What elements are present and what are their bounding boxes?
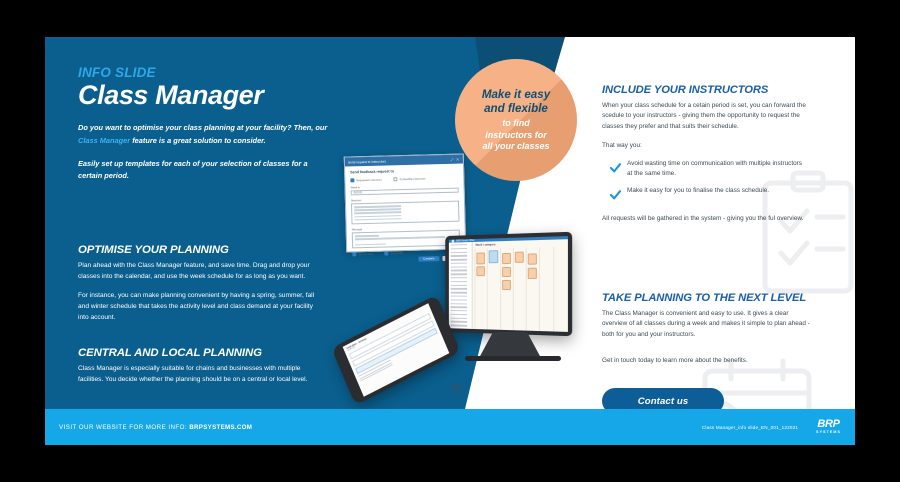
lede-paragraph: Do you want to optimise your class plann… [78,122,328,146]
week-calendar-grid[interactable]: Week / category [473,239,568,332]
badge-line-3: to find [502,118,530,128]
badge-line-2: and flexible [484,102,548,115]
dialog-complete-button[interactable]: Complete [418,256,439,262]
smartphone-mockup: Instruktör - schema Vecka 05 [337,319,469,423]
calendar-event[interactable] [502,267,511,277]
sidebar-line [451,277,467,278]
calendar-column[interactable] [553,247,566,332]
logo-wordmark: BRP [816,419,841,430]
dialog-radio-requested[interactable]: Requested instructors [350,178,381,183]
radio-off-icon [394,177,398,181]
sidebar-line [451,295,467,296]
dialog-sessions-list[interactable] [351,201,460,225]
radio-label: Requested instructors [356,178,381,182]
checkbox-checked-icon [352,252,356,256]
checkmark-icon [610,160,621,178]
list-item: Avoid wasting time on communication with… [602,159,807,179]
calendar-column[interactable] [487,248,499,332]
section-heading: TAKE PLANNING TO THE NEXT LEVEL [602,292,810,304]
sidebar-line [451,244,467,246]
calendar-event[interactable] [528,268,537,279]
list-line [355,243,386,245]
footer-right: Class Manager_info slide_EN_001_122021 B… [702,419,841,434]
calendar-event[interactable] [515,252,524,263]
badge-headline: Make it easy and flexible [482,88,550,115]
calendar-column[interactable] [475,248,487,331]
footer-document-code: Class Manager_info slide_EN_001_122021 [702,425,798,430]
sidebar-line [451,255,467,257]
list-line [355,235,380,237]
section-include-your-instructors: INCLUDE YOUR INSTRUCTORS When your class… [602,84,807,224]
calendar-column[interactable] [500,248,512,332]
monitor-stand [449,332,587,366]
left-column: INFO SLIDE Class Manager Do you want to … [78,65,328,182]
section-outro: All requests will be gathered in the sys… [602,214,807,224]
sidebar-line [451,314,467,316]
footer-bar: VISIT OUR WEBSITE FOR MORE INFO: BRPSYST… [45,409,855,445]
sidebar-line [451,285,467,286]
dialog-radio-group: Requested instructors Compatible instruc… [350,176,458,183]
list-line [355,236,445,240]
sidebar-line [451,299,467,301]
calendar-event[interactable] [502,280,511,290]
calendar-event[interactable] [476,252,485,264]
section-paragraph: Plan ahead with the Class Manager featur… [78,261,318,282]
badge-line-4: instructors for [485,130,547,140]
brp-systems-logo: BRP SYSTEMS [816,419,841,434]
lede-part-2: feature is a great solution to consider. [130,136,266,145]
phone-home-button[interactable] [450,382,462,394]
dialog-heading: Send feedback request to [350,168,458,175]
sidebar-line [451,274,467,275]
sidebar-line [451,248,467,250]
calendar-column[interactable] [539,247,552,332]
info-slide: INFO SLIDE Class Manager Do you want to … [45,37,855,445]
calendar-event[interactable] [489,250,498,263]
that-way-label: That way you: [602,141,807,151]
dialog-checkbox-sms[interactable]: Send SMS [384,251,403,255]
sidebar-line [451,292,467,293]
sidebar-line [451,259,467,261]
calendar-event[interactable] [528,253,537,264]
badge-line-5: all your classes [482,141,549,151]
badge-line-1: Make it easy [482,88,550,101]
section-central-and-local-planning: CENTRAL AND LOCAL PLANNING Class Manager… [78,347,316,385]
footer-prefix: VISIT OUR WEBSITE FOR MORE INFO: [59,424,189,431]
section-heading: OPTIMISE YOUR PLANNING [78,244,318,256]
calendar-columns [475,247,566,332]
radio-on-icon [350,178,354,182]
sidebar-line [451,251,467,253]
sidebar-line [451,270,467,271]
sidebar-line [451,281,467,282]
logo-subtext: SYSTEMS [816,431,841,435]
sidebar-line [451,310,467,312]
lede-paragraph-2: Easily set up templates for each of your… [78,158,328,182]
calendar-view-title: Week / category [475,242,495,246]
checkmark-icon [610,187,621,205]
calendar-column[interactable] [526,247,538,332]
calendar-event[interactable] [502,253,511,264]
page-title: Class Manager [78,81,328,109]
section-heading: CENTRAL AND LOCAL PLANNING [78,347,316,359]
footer-website-url[interactable]: BRPSYSTEMS.COM [189,424,252,431]
eyebrow-label: INFO SLIDE [78,65,328,80]
badge-subline: to find instructors for all your classes [482,118,549,151]
checkbox-label: Send SMS [390,252,402,255]
section-paragraph: Class Manager is especially suitable for… [78,364,316,385]
section-paragraph: For instance, you can make planning conv… [78,291,318,323]
sidebar-line [451,288,467,289]
checkbox-label: Send E-mail [358,252,372,255]
dialog-title-text: Send request to instructors [348,159,386,164]
section-optimise-your-planning: OPTIMISE YOUR PLANNING Plan ahead with t… [78,244,318,323]
sidebar-line [451,266,467,268]
dialog-checkbox-email[interactable]: Send E-mail [352,252,372,257]
section-intro: When your class schedule for a cetain pe… [602,101,807,132]
lede-highlight: Class Manager [78,136,130,145]
footer-website-text: VISIT OUR WEBSITE FOR MORE INFO: BRPSYST… [59,424,252,431]
list-item-label: Avoid wasting time on communication with… [627,159,807,179]
list-line [354,218,401,221]
list-item-label: Make it easy for you to finalise the cla… [627,186,769,196]
sidebar-line [451,303,467,305]
dialog-window-controls-icon[interactable]: ⤢ ✕ [451,157,460,161]
lede-part-1: Do you want to optimise your class plann… [78,123,327,132]
calendar-column[interactable] [513,248,525,332]
checkbox-checked-icon [384,251,388,255]
sidebar-line [451,306,467,308]
cta-intro-text: Get in touch today to learn more about t… [602,356,810,366]
benefits-list: Avoid wasting time on communication with… [602,159,807,205]
sidebar-line [451,262,467,264]
section-paragraph: The Class Manager is convenient and easy… [602,309,810,340]
radio-label: Compatible instructors [400,177,426,181]
dialog-radio-compatible[interactable]: Compatible instructors [394,176,426,181]
section-take-planning-to-the-next-level: TAKE PLANNING TO THE NEXT LEVEL The Clas… [602,292,810,414]
section-heading: INCLUDE YOUR INSTRUCTORS [602,84,807,96]
promo-badge: Make it easy and flexible to find instru… [455,59,577,181]
monitor-screen-content: BRP Retail Office [449,236,568,332]
list-item: Make it easy for you to finalise the cla… [602,186,807,205]
calendar-event[interactable] [476,266,485,276]
